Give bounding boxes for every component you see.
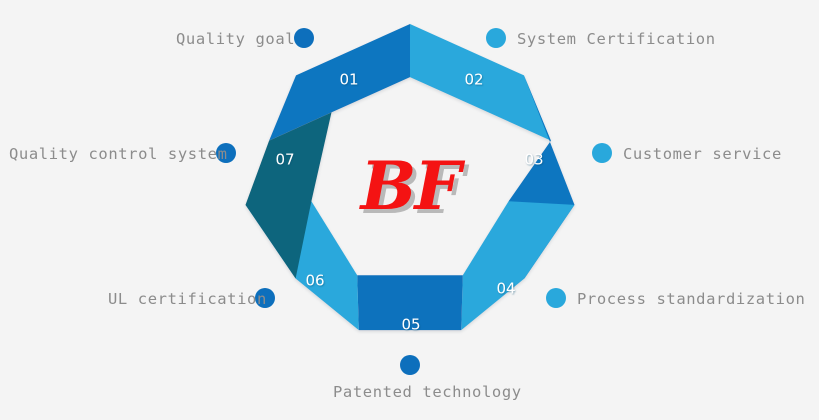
diagram-canvas: 01 02 03 04 05 06 07 BF BF Quality goal … <box>0 0 819 420</box>
segment-number-01: 01 <box>339 71 358 89</box>
label-customer-service: Customer service <box>623 147 782 163</box>
label-patented-technology: Patented technology <box>333 385 522 401</box>
segment-number-03: 03 <box>524 151 543 169</box>
label-quality-control-system: Quality control system <box>9 147 228 163</box>
bullet-dot-process-standardization[interactable] <box>546 288 566 308</box>
segment-number-02: 02 <box>464 71 483 89</box>
bullet-dot-customer-service[interactable] <box>592 143 612 163</box>
label-quality-goal: Quality goal <box>176 32 295 48</box>
bullet-dot-quality-goal[interactable] <box>294 28 314 48</box>
label-process-standardization: Process standardization <box>577 292 805 308</box>
segment-number-04: 04 <box>496 280 515 298</box>
label-system-certification: System Certification <box>517 32 716 48</box>
segment-04[interactable] <box>461 201 574 330</box>
segment-number-06: 06 <box>305 272 324 290</box>
segment-number-07: 07 <box>275 151 294 169</box>
bullet-dot-system-certification[interactable] <box>486 28 506 48</box>
bullet-dot-patented-technology[interactable] <box>400 355 420 375</box>
label-ul-certification: UL certification <box>108 292 267 308</box>
segment-number-05: 05 <box>401 316 420 334</box>
